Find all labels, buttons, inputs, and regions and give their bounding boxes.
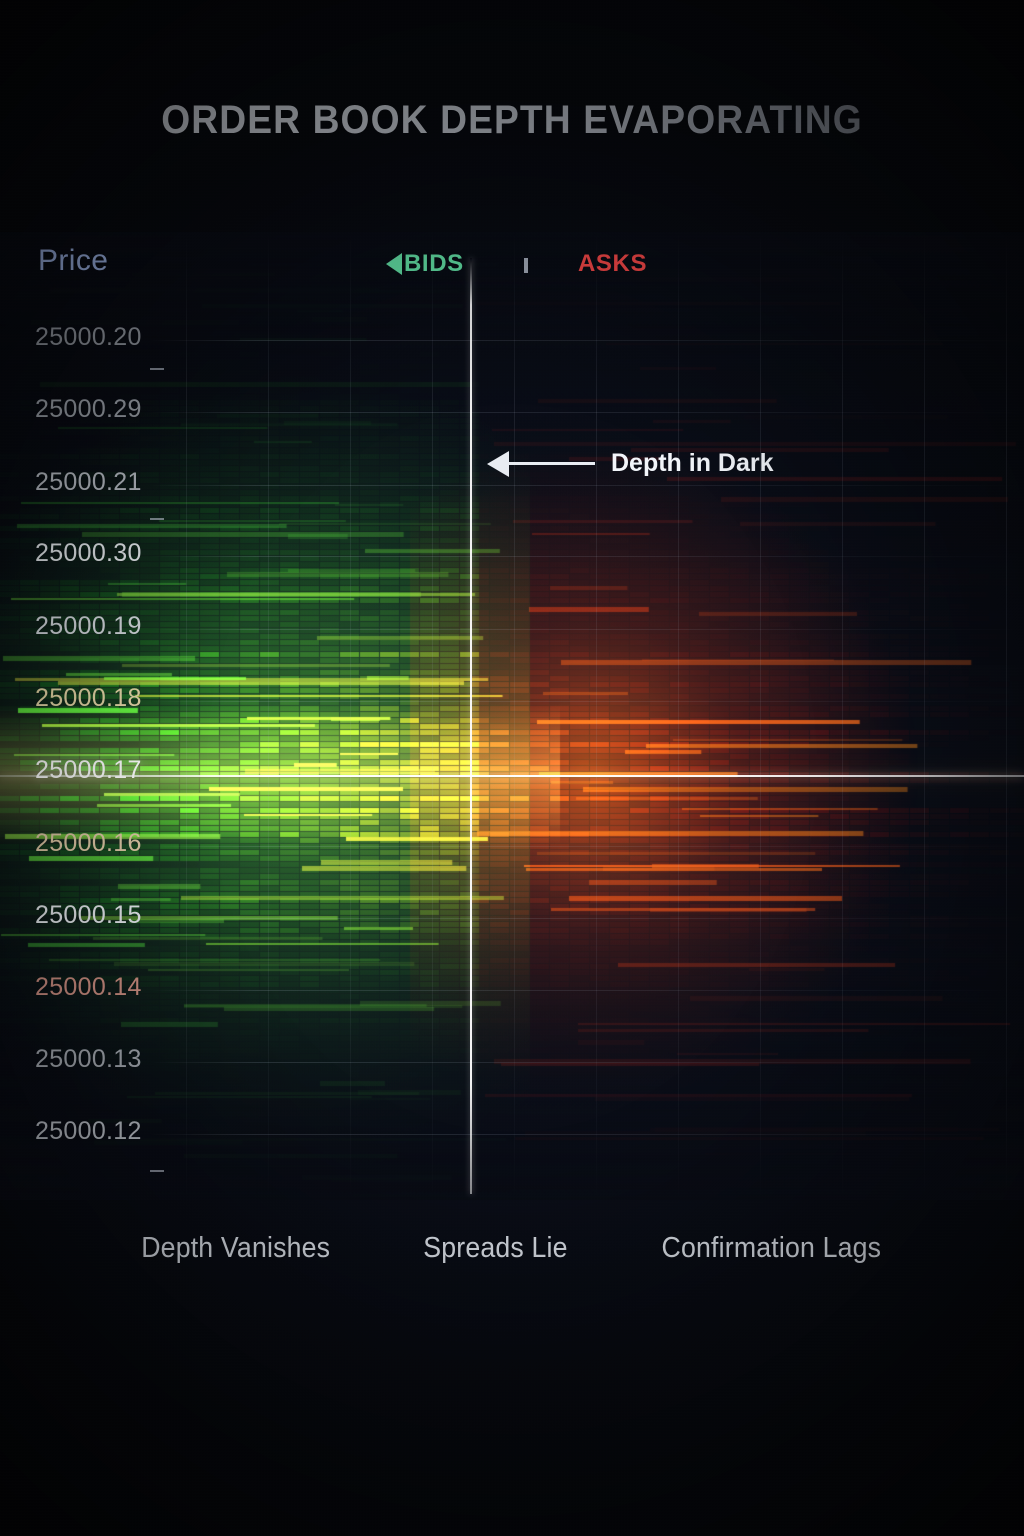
- price-tick-25000-19: 25000.19: [35, 612, 142, 641]
- price-tick-25000-16: 25000.16: [35, 829, 142, 858]
- guide-dash-h: [150, 368, 1024, 370]
- grid-line-h: [150, 773, 1024, 774]
- orderbook-depth-heatmap: [0, 232, 1024, 1200]
- footer-item: Confirmation Lags: [661, 1232, 881, 1265]
- arrow-left-icon: [386, 253, 402, 275]
- price-tick-25000-17: 25000.17: [35, 756, 142, 785]
- guide-dash-h: [150, 1170, 1024, 1172]
- price-tick-25000-21: 25000.21: [35, 468, 142, 497]
- bids-header: BIDS: [386, 250, 464, 278]
- price-tick-25000-14: 25000.14: [35, 973, 142, 1002]
- grid-line-v: [432, 232, 433, 1200]
- grid-line-v: [186, 232, 187, 1200]
- asks-label: ASKS: [578, 250, 647, 278]
- depth-in-dark-annotation: Depth in Dark: [487, 449, 774, 478]
- price-tick-25000-13: 25000.13: [35, 1045, 142, 1074]
- price-tick-25000-15: 25000.15: [35, 901, 142, 930]
- grid-line-h: [150, 412, 1024, 413]
- footer-captions: Depth VanishesSpreads LieConfirmation La…: [0, 1232, 1024, 1265]
- grid-line-v: [268, 232, 269, 1200]
- grid-line-v: [842, 232, 843, 1200]
- grid-line-h: [150, 846, 1024, 847]
- mid-price-line: [0, 775, 1024, 777]
- arrow-shaft: [509, 462, 595, 465]
- price-tick-25000-30: 25000.30: [35, 539, 142, 568]
- grid-line-h: [150, 485, 1024, 486]
- price-axis-title: Price: [38, 244, 108, 278]
- grid-line-v: [596, 232, 597, 1200]
- dark-pool-boundary-line: [524, 258, 528, 1194]
- grid-line-h: [150, 1134, 1024, 1135]
- grid-line-h: [150, 556, 1024, 557]
- grid-line-v: [924, 232, 925, 1200]
- footer-item: Depth Vanishes: [142, 1232, 331, 1265]
- price-tick-25000-12: 25000.12: [35, 1117, 142, 1146]
- grid-line-v: [760, 232, 761, 1200]
- footer-item: Spreads Lie: [423, 1232, 567, 1265]
- grid-line-h: [150, 629, 1024, 630]
- grid-line-v: [1006, 232, 1007, 1200]
- grid-line-h: [150, 990, 1024, 991]
- grid-line-v: [514, 232, 515, 1200]
- grid-line-h: [150, 340, 1024, 341]
- grid-line-h: [150, 1062, 1024, 1063]
- bids-label: BIDS: [404, 250, 464, 278]
- grid-line-v: [678, 232, 679, 1200]
- grid-layer: [0, 232, 1024, 1200]
- price-tick-25000-20: 25000.20: [35, 323, 142, 352]
- grid-line-h: [150, 701, 1024, 702]
- grid-line-h: [150, 918, 1024, 919]
- guide-dash-h: [150, 518, 1024, 520]
- price-tick-25000-29: 25000.29: [35, 395, 142, 424]
- grid-line-v: [350, 232, 351, 1200]
- page-title: ORDER BOOK DEPTH EVAPORATING: [36, 98, 988, 143]
- annotation-label: Depth in Dark: [611, 449, 774, 478]
- best-bid-line: [470, 258, 472, 1194]
- price-tick-25000-18: 25000.18: [35, 684, 142, 713]
- arrow-left-icon: [487, 451, 509, 477]
